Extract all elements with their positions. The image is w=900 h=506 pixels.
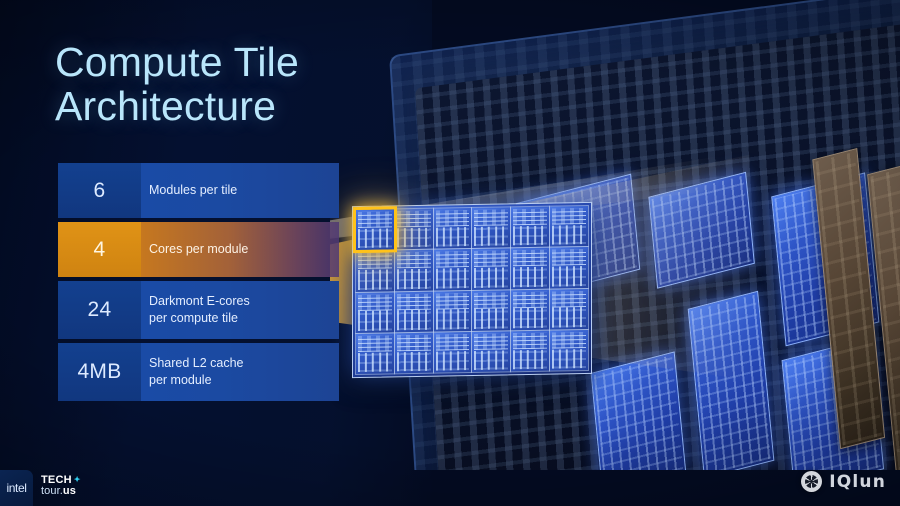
page-title-line-1: Compute Tile (55, 41, 435, 85)
tech-tour-logo: TECH ✦ tour.us (41, 475, 81, 497)
spec-label-line: Darkmont E-cores (149, 293, 339, 310)
watermark-text: IQlun (829, 472, 886, 492)
module-highlighted (356, 209, 394, 250)
module-cell (356, 251, 394, 292)
module-cell (356, 333, 394, 374)
spec-value: 4 (58, 238, 141, 262)
intel-logo: intel (0, 470, 33, 506)
module-cell (550, 206, 588, 247)
module-cell (356, 292, 394, 333)
intel-logo-text: intel (6, 481, 26, 495)
spec-label-line: Cores per module (149, 241, 339, 258)
module-cell (472, 207, 510, 248)
module-cell (472, 249, 510, 290)
module-cell (434, 332, 472, 373)
aperture-icon (801, 471, 822, 492)
module-cell (511, 248, 549, 289)
module-cell (550, 330, 588, 371)
spec-label-line: Shared L2 cache (149, 355, 339, 372)
page-title: Compute Tile Architecture (55, 41, 435, 129)
watermark-logo: IQlun (801, 471, 886, 492)
module-cell (472, 331, 510, 372)
spark-icon: ✦ (74, 476, 81, 484)
module-cell (434, 249, 472, 290)
spec-table: 6 Modules per tile 4 Cores per module 24… (58, 163, 339, 405)
module-cell (511, 289, 549, 330)
branding-bottom-left: intel TECH ✦ tour.us (0, 470, 81, 506)
die-blue-6 (591, 351, 687, 470)
slide-compute-tile-architecture: Compute Tile Architecture 6 Modules per … (0, 0, 900, 506)
module-cell (395, 332, 433, 373)
spec-label: Shared L2 cache per module (141, 355, 339, 390)
zoomed-compute-tile (352, 202, 592, 378)
spec-label-line: per module (149, 372, 339, 389)
module-cell (395, 209, 433, 250)
page-title-line-2: Architecture (55, 85, 435, 129)
module-cell (472, 290, 510, 331)
spec-label-line: per compute tile (149, 310, 339, 327)
tech-tour-us-text: us (63, 485, 76, 497)
module-cell (395, 291, 433, 332)
module-cell (434, 291, 472, 332)
spec-label: Modules per tile (141, 182, 339, 199)
module-cell (550, 288, 588, 329)
module-cell (511, 330, 549, 371)
tech-tour-tour-text: tour. (41, 485, 63, 497)
spec-row-shared-l2-cache: 4MB Shared L2 cache per module (58, 343, 339, 401)
spec-label: Cores per module (141, 241, 339, 258)
tech-tour-line-2: tour.us (41, 486, 81, 497)
spec-value: 4MB (58, 360, 141, 384)
module-cell (511, 207, 549, 248)
spec-label-line: Modules per tile (149, 182, 339, 199)
spec-row-modules-per-tile: 6 Modules per tile (58, 163, 339, 218)
spec-row-cores-per-module: 4 Cores per module (58, 222, 339, 277)
module-cell (395, 250, 433, 291)
spec-label: Darkmont E-cores per compute tile (141, 293, 339, 328)
module-cell (434, 208, 472, 249)
module-cell (550, 247, 588, 288)
spec-value: 6 (58, 179, 141, 203)
spec-value: 24 (58, 298, 141, 322)
spec-row-darkmont-e-cores: 24 Darkmont E-cores per compute tile (58, 281, 339, 339)
